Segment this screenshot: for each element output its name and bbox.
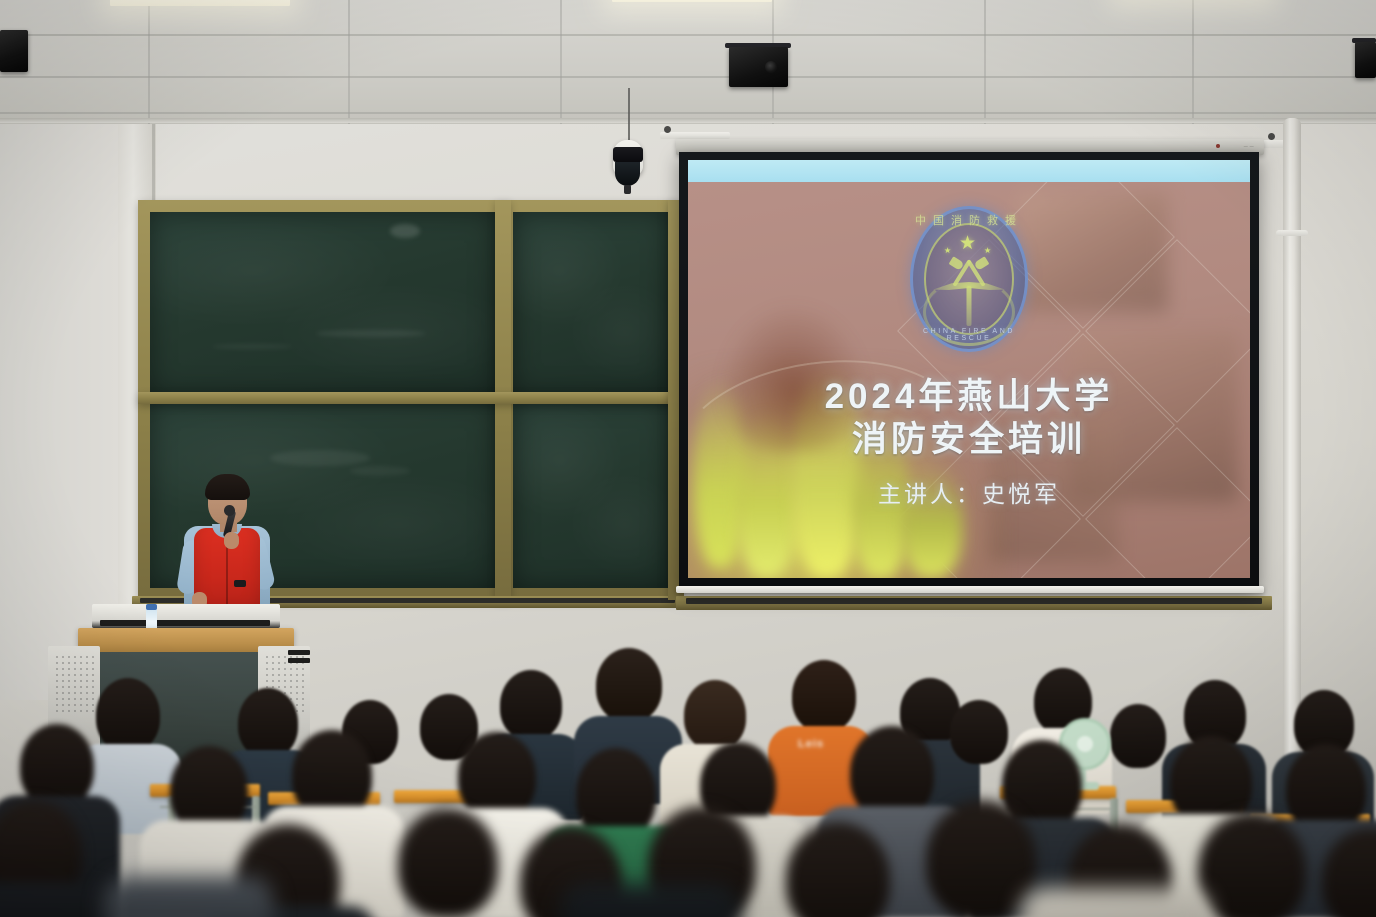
student-body bbox=[0, 882, 120, 917]
student-head bbox=[792, 660, 856, 732]
student-head bbox=[1198, 812, 1306, 917]
foreground-silhouette bbox=[104, 876, 274, 917]
foreground-silhouette bbox=[560, 884, 740, 917]
student-head bbox=[950, 700, 1008, 764]
student-head bbox=[1110, 704, 1166, 768]
student-head bbox=[500, 670, 562, 740]
student-head bbox=[238, 688, 298, 758]
student-head bbox=[684, 680, 746, 750]
student-head bbox=[398, 808, 498, 917]
foreground-silhouette bbox=[1020, 888, 1210, 917]
student-head bbox=[96, 678, 160, 752]
lecture-hall-photo: — — bbox=[0, 0, 1376, 917]
student-head bbox=[458, 732, 536, 820]
student-head bbox=[926, 800, 1036, 917]
student-head bbox=[596, 648, 662, 722]
student-shirt-graphic: Leis bbox=[798, 738, 824, 750]
